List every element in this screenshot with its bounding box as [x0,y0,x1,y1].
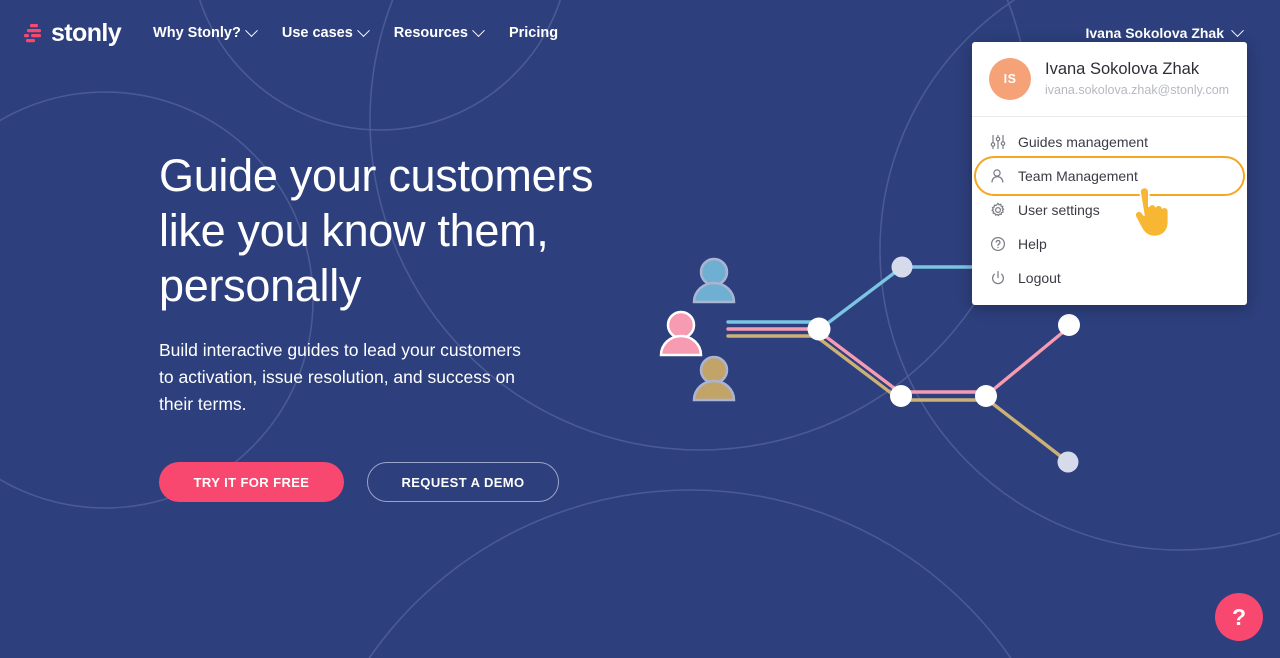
gear-icon [989,202,1006,219]
menu-item-team-management[interactable]: Team Management [972,159,1247,193]
request-a-demo-button[interactable]: REQUEST A DEMO [367,462,559,502]
menu-item-help[interactable]: Help [972,227,1247,261]
hero-actions: TRY IT FOR FREE REQUEST A DEMO [159,462,719,502]
brand-logo[interactable]: stonly [24,19,121,48]
account-menu-trigger[interactable]: Ivana Sokolova Zhak [1086,25,1257,41]
hero-title-line-1: Guide your customers [159,150,593,201]
hero-title-line-3: personally [159,260,361,311]
account-name-label: Ivana Sokolova Zhak [1086,25,1225,41]
dropdown-user-email: ivana.sokolova.zhak@stonly.com [1045,81,1229,100]
chevron-down-icon [357,24,370,37]
nav-item-label: Resources [394,25,468,41]
chevron-down-icon [1231,24,1244,37]
chevron-down-icon [245,24,258,37]
dropdown-user-name: Ivana Sokolova Zhak [1045,59,1229,80]
hero-section: Guide your customers like you know them,… [159,148,719,502]
nav-item-label: Use cases [282,25,353,41]
menu-item-label: Logout [1018,270,1061,286]
sliders-icon [989,134,1006,151]
chevron-down-icon [472,24,485,37]
avatar: IS [989,58,1031,100]
hero-subtitle: Build interactive guides to lead your cu… [159,337,539,418]
graph-node-bottom-right [1058,452,1079,473]
menu-item-label: Guides management [1018,134,1148,150]
page-title: Guide your customers like you know them,… [159,148,719,313]
menu-item-label: Help [1018,236,1047,252]
graph-node-top-right [1058,314,1080,336]
menu-item-logout[interactable]: Logout [972,261,1247,295]
nav-item-label: Pricing [509,25,558,41]
help-button[interactable]: ? [1215,593,1263,641]
person-icon [989,168,1006,185]
account-dropdown-menu: IS Ivana Sokolova Zhak ivana.sokolova.zh… [972,42,1247,305]
nav-item-use-cases[interactable]: Use cases [282,25,368,41]
dropdown-user-header: IS Ivana Sokolova Zhak ivana.sokolova.zh… [972,42,1247,117]
nav-item-resources[interactable]: Resources [394,25,483,41]
brand-name: stonly [51,19,121,48]
power-icon [989,270,1006,287]
graph-node-top [892,257,913,278]
hero-title-line-2: like you know them, [159,205,548,256]
stonly-stacked-bars-icon [24,22,44,44]
menu-item-label: User settings [1018,202,1100,218]
menu-item-guides-management[interactable]: Guides management [972,125,1247,159]
dropdown-items: Guides management Team Management [972,117,1247,305]
nav-item-label: Why Stonly? [153,25,241,41]
nav-item-why-stonly[interactable]: Why Stonly? [153,25,256,41]
menu-item-label: Team Management [1018,168,1138,184]
menu-item-user-settings[interactable]: User settings [972,193,1247,227]
graph-node-mid-right [975,385,997,407]
graph-node-hub [808,318,831,341]
nav-links: Why Stonly? Use cases Resources Pricing [153,25,558,41]
nav-item-pricing[interactable]: Pricing [509,25,558,41]
try-it-for-free-button[interactable]: TRY IT FOR FREE [159,462,344,502]
question-circle-icon [989,236,1006,253]
graph-node-mid-left [890,385,912,407]
landing-page: stonly Why Stonly? Use cases Resources P… [0,0,1280,658]
